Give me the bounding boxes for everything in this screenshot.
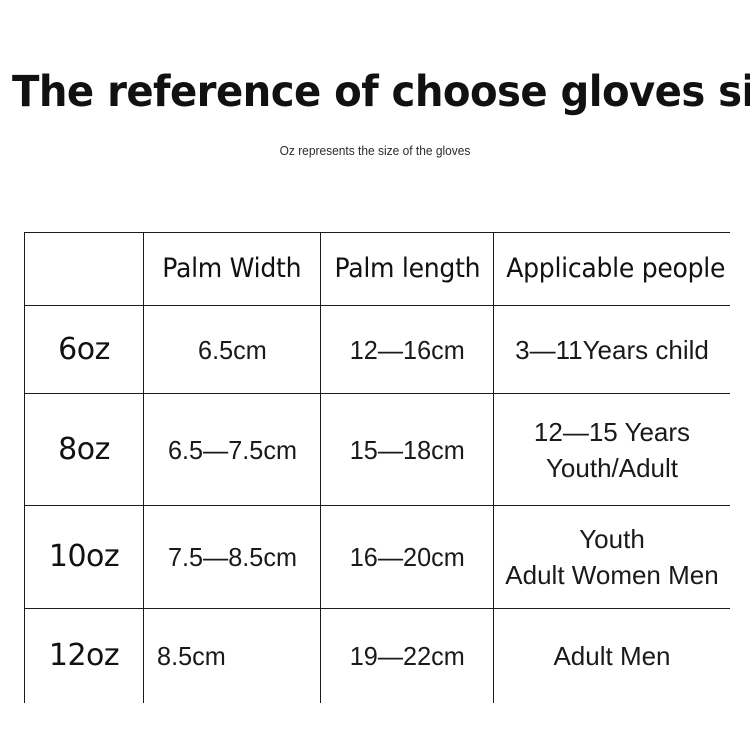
cell-palm-width: 6.5—7.5cm bbox=[144, 394, 321, 506]
cell-palm-width-value: 7.5—8.5cm bbox=[168, 541, 297, 573]
column-header-applicable-people-label: Applicable people bbox=[506, 254, 725, 284]
cell-applicable-people: Adult Men bbox=[494, 609, 731, 704]
cell-size: 12oz bbox=[25, 609, 144, 704]
cell-size: 10oz bbox=[25, 506, 144, 609]
cell-palm-length: 19—22cm bbox=[321, 609, 494, 704]
cell-palm-length-value: 12—16cm bbox=[350, 334, 465, 366]
cell-applicable-people-line1: Adult Men bbox=[498, 638, 726, 674]
cell-size: 6oz bbox=[25, 306, 144, 394]
column-header-palm-length: Palm length bbox=[321, 233, 494, 306]
size-table-container: Palm Width Palm length Applicable people… bbox=[24, 232, 730, 703]
table-row: 12oz 8.5cm 19—22cm Adult Men bbox=[25, 609, 731, 704]
column-header-palm-length-label: Palm length bbox=[334, 254, 480, 284]
column-header-size bbox=[25, 233, 144, 306]
cell-palm-length: 15—18cm bbox=[321, 394, 494, 506]
gloves-size-table: Palm Width Palm length Applicable people… bbox=[24, 232, 730, 703]
cell-applicable-people-line1: 3—11Years child bbox=[498, 332, 726, 368]
cell-palm-width-value: 6.5—7.5cm bbox=[168, 434, 297, 466]
cell-applicable-people: Youth Adult Women Men bbox=[494, 506, 731, 609]
cell-palm-length-value: 16—20cm bbox=[350, 541, 465, 573]
page-title: The reference of choose gloves size bbox=[12, 66, 750, 118]
table-row: 8oz 6.5—7.5cm 15—18cm 12—15 Years Youth/… bbox=[25, 394, 731, 506]
cell-palm-width-value: 6.5cm bbox=[198, 334, 267, 366]
cell-palm-width: 6.5cm bbox=[144, 306, 321, 394]
cell-applicable-people-line1: 12—15 Years bbox=[498, 414, 726, 450]
cell-applicable-people-line1: Youth bbox=[498, 521, 726, 557]
cell-applicable-people-line2: Youth/Adult bbox=[498, 450, 726, 486]
column-header-palm-width: Palm Width bbox=[144, 233, 321, 306]
cell-palm-length: 12—16cm bbox=[321, 306, 494, 394]
cell-applicable-people: 3—11Years child bbox=[494, 306, 731, 394]
table-row: 6oz 6.5cm 12—16cm 3—11Years child bbox=[25, 306, 731, 394]
page-subtitle: Oz represents the size of the gloves bbox=[30, 142, 720, 160]
cell-palm-length: 16—20cm bbox=[321, 506, 494, 609]
cell-palm-width: 7.5—8.5cm bbox=[144, 506, 321, 609]
table-row: 10oz 7.5—8.5cm 16—20cm Youth Adult Women… bbox=[25, 506, 731, 609]
cell-palm-width-value: 8.5cm bbox=[157, 640, 226, 672]
cell-palm-length-value: 19—22cm bbox=[350, 640, 465, 672]
cell-size: 8oz bbox=[25, 394, 144, 506]
cell-palm-length-value: 15—18cm bbox=[350, 434, 465, 466]
cell-applicable-people-line2: Adult Women Men bbox=[498, 557, 726, 593]
background-artifact bbox=[310, 196, 460, 212]
cell-applicable-people: 12—15 Years Youth/Adult bbox=[494, 394, 731, 506]
column-header-applicable-people: Applicable people bbox=[494, 233, 731, 306]
cell-palm-width: 8.5cm bbox=[144, 609, 321, 704]
table-header-row: Palm Width Palm length Applicable people bbox=[25, 233, 731, 306]
column-header-palm-width-label: Palm Width bbox=[162, 254, 301, 284]
